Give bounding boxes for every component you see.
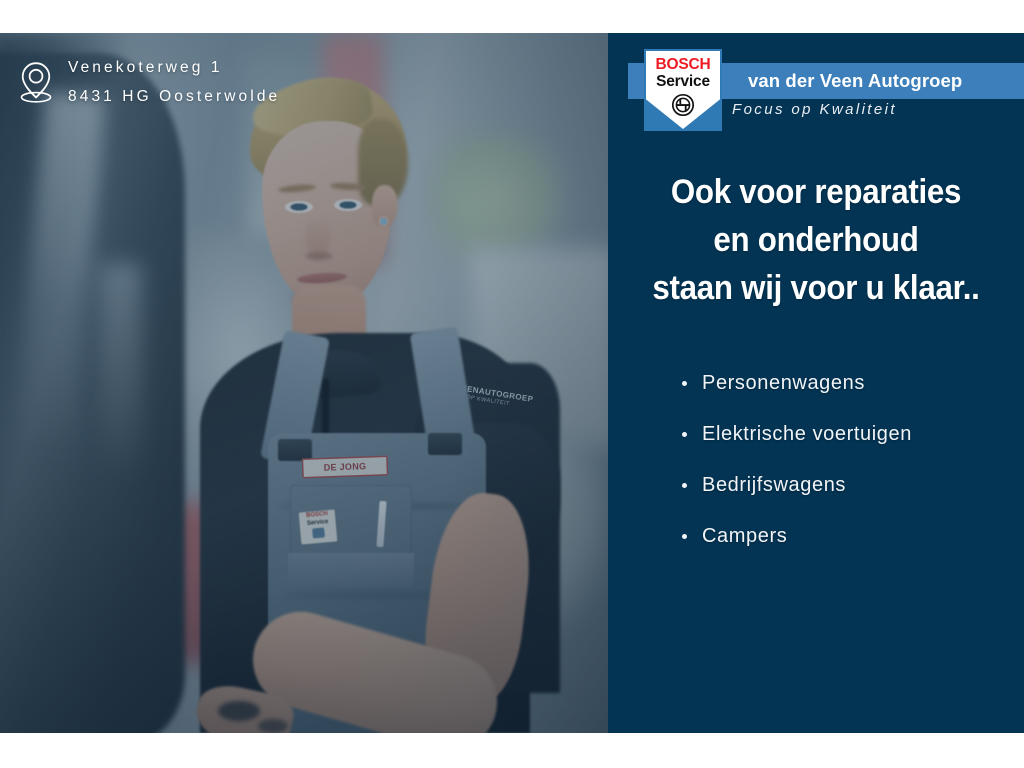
address-text: Venekoterweg 1 8431 HG Oosterwolde — [68, 53, 280, 111]
list-item: Bedrijfswagens — [680, 473, 1010, 497]
list-item: Elektrische voertuigen — [680, 422, 1010, 446]
address-postal-city: 8431 HG Oosterwolde — [68, 82, 280, 111]
service-label: Elektrische voertuigen — [702, 423, 912, 445]
headline-line-2: en onderhoud — [625, 216, 1008, 264]
service-label: Personenwagens — [702, 372, 865, 394]
photo-vignette — [0, 33, 608, 733]
mechanic-photo: VDVEENAUTOGROEP FOCUS OP KWALITEIT DE JO… — [0, 33, 608, 733]
promo-banner: VDVEENAUTOGROEP FOCUS OP KWALITEIT DE JO… — [0, 33, 1024, 733]
bosch-service-logo: BOSCH Service — [644, 49, 722, 131]
map-pin-icon — [18, 60, 54, 104]
headline-line-3: staan wij voor u klaar.. — [625, 264, 1008, 312]
list-item: Campers — [680, 524, 1010, 548]
service-label: Bedrijfswagens — [702, 474, 846, 496]
bosch-armature-icon — [671, 93, 695, 117]
company-name: van der Veen Autogroep — [748, 63, 1024, 99]
list-item: Personenwagens — [680, 371, 1010, 395]
logo-service-word: Service — [644, 73, 722, 91]
address-street: Venekoterweg 1 — [68, 53, 280, 82]
services-list: Personenwagens Elektrische voertuigen Be… — [680, 371, 1010, 575]
service-label: Campers — [702, 525, 787, 547]
info-panel: BOSCH Service van der Veen Autogroep Foc… — [608, 33, 1024, 733]
company-tagline: Focus op Kwaliteit — [732, 101, 897, 118]
address-overlay: Venekoterweg 1 8431 HG Oosterwolde — [18, 53, 280, 111]
headline-line-1: Ook voor reparaties — [625, 168, 1008, 216]
logo-bosch-word: BOSCH — [644, 56, 722, 74]
headline: Ook voor reparaties en onderhoud staan w… — [625, 168, 1008, 312]
